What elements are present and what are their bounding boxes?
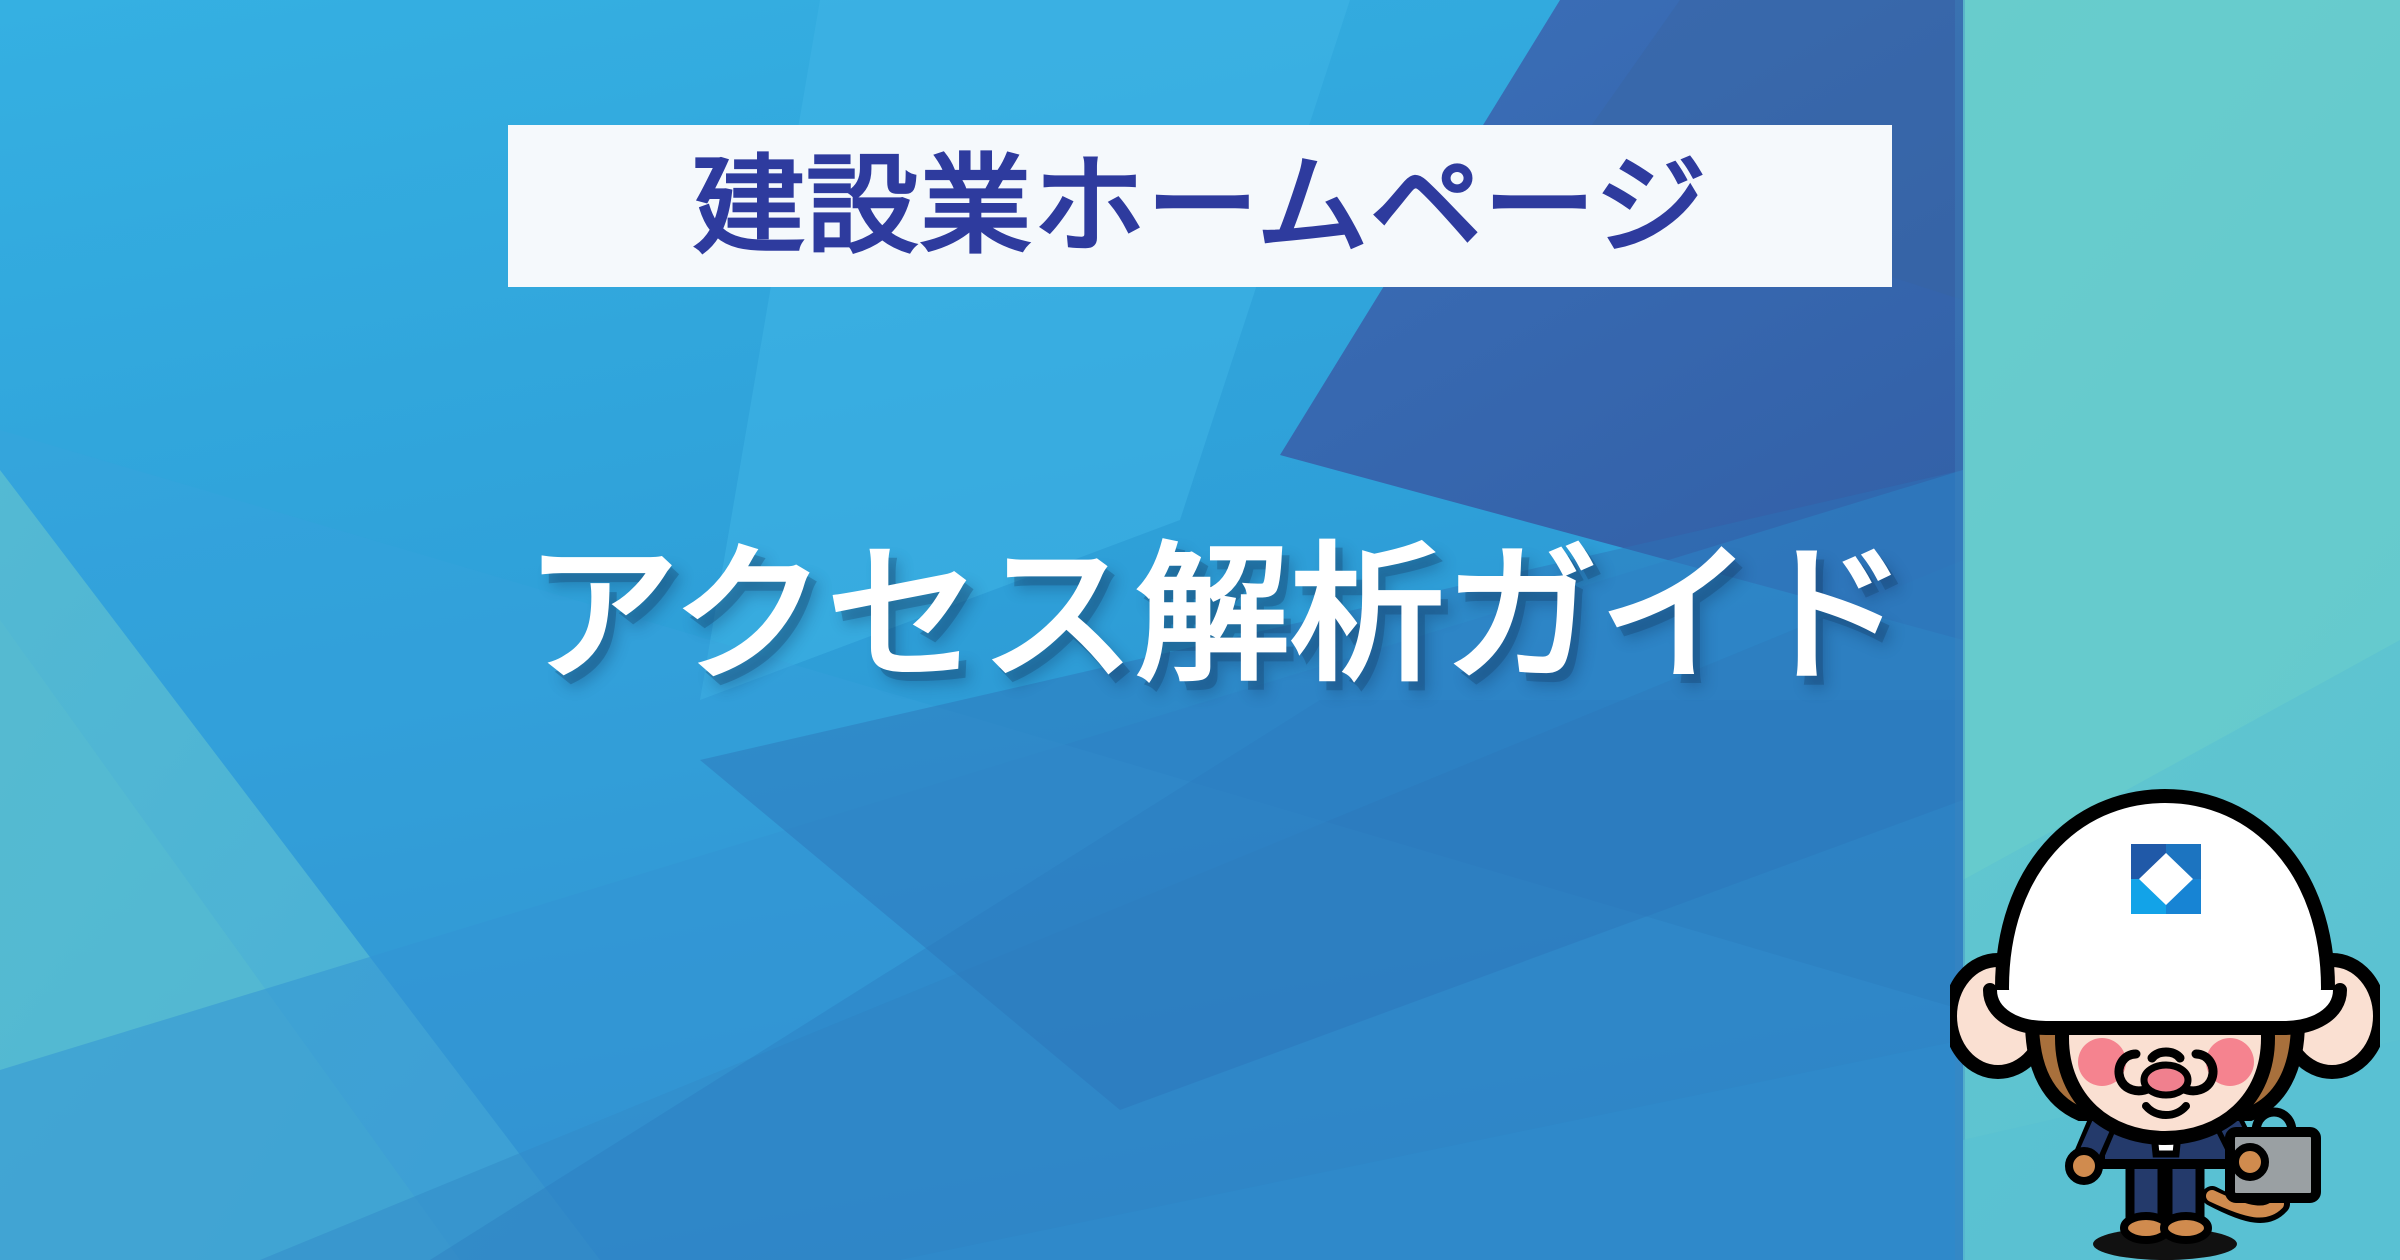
mascot-hand-right <box>2235 1147 2265 1177</box>
mascot-nose <box>2144 1065 2188 1095</box>
mascot-character <box>1950 766 2380 1260</box>
banner-root: 建設業ホームページ アクセス解析ガイド <box>0 0 2400 1260</box>
headline-text: アクセス解析ガイド <box>525 540 1908 690</box>
mascot-helmet-brim <box>1990 990 2340 1028</box>
mascot-foot-right <box>2164 1216 2208 1240</box>
helmet-logo <box>2131 844 2201 914</box>
title-band: 建設業ホームページ <box>508 125 1892 287</box>
band-title-text: 建設業ホームページ <box>692 152 1707 260</box>
mascot-helmet <box>1990 796 2340 1028</box>
mascot-hand-left <box>2069 1151 2099 1181</box>
mascot-illustration <box>1950 766 2380 1260</box>
headline-container: アクセス解析ガイド <box>545 520 1865 710</box>
